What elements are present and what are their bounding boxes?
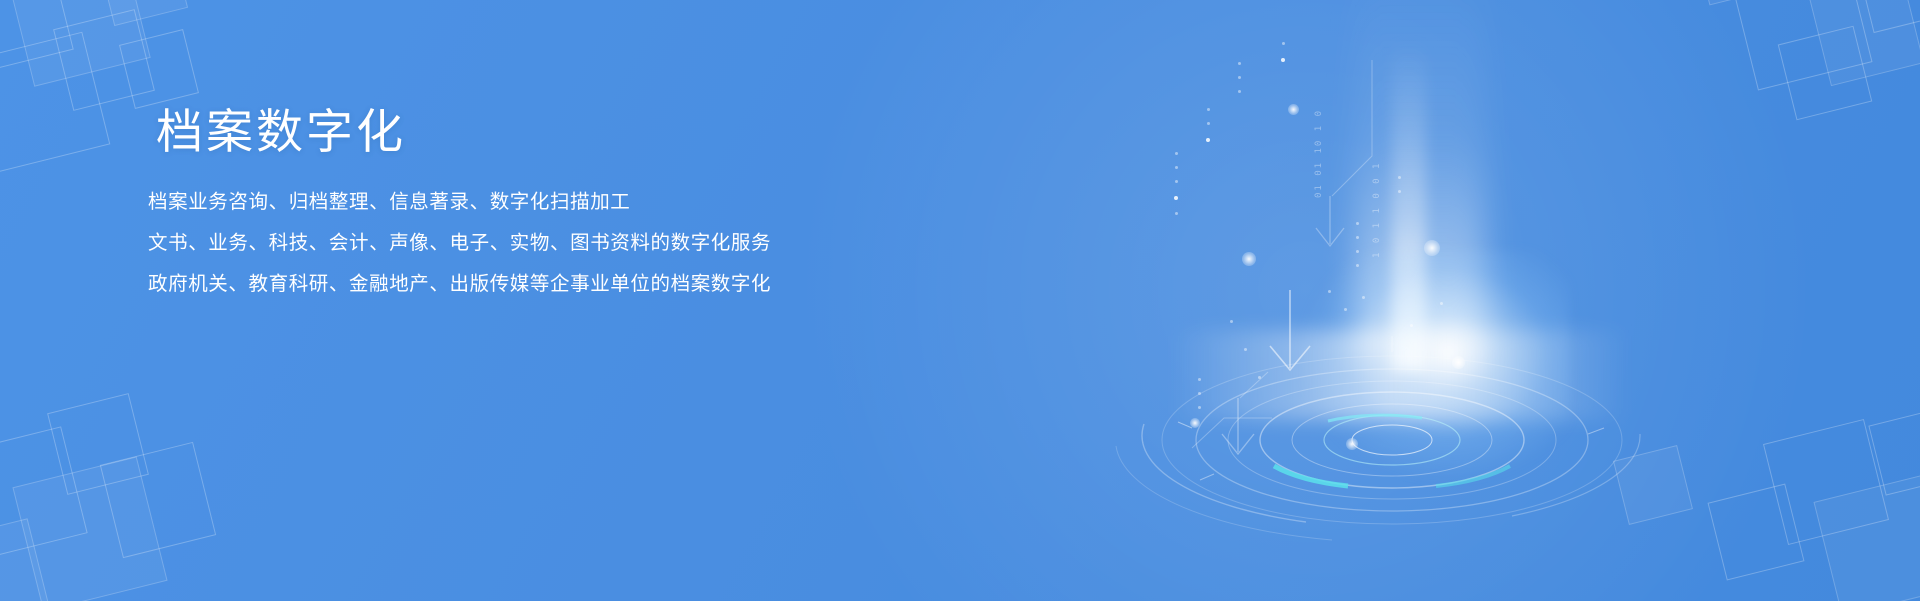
download-arrow-icon <box>1222 398 1254 454</box>
page-title: 档案数字化 <box>156 106 908 158</box>
banner-subline: 档案业务咨询、归档整理、信息著录、数字化扫描加工 <box>148 182 908 223</box>
banner-subline: 政府机关、教育科研、金融地产、出版传媒等企事业单位的档案数字化 <box>148 264 908 305</box>
banner-copy: 档案数字化 档案业务咨询、归档整理、信息著录、数字化扫描加工 文书、业务、科技、… <box>148 106 908 305</box>
banner-subline: 文书、业务、科技、会计、声像、电子、实物、图书资料的数字化服务 <box>148 223 908 264</box>
download-arrow-icon <box>1270 290 1310 370</box>
connector-lines-icon <box>1192 60 1372 448</box>
download-arrow-icon <box>1316 196 1344 246</box>
micro-text-label: 1 0 1 1 0 0 1 <box>1372 162 1382 258</box>
micro-text-label: 01 01 10 1 0 <box>1314 109 1324 198</box>
archive-digitization-banner: 01 01 10 1 0 1 0 1 1 0 0 1 <box>0 0 1920 601</box>
